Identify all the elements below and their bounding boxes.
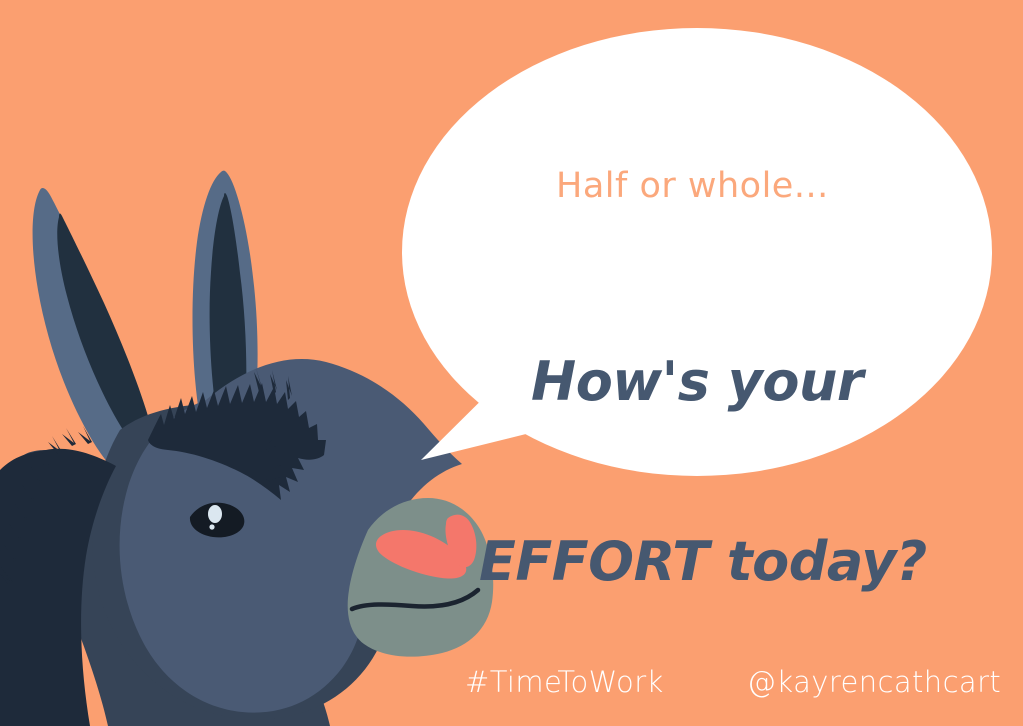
footer-handle: @kayrencathcart (747, 665, 1001, 699)
bubble-kicker-text: Half or whole... (556, 166, 829, 206)
eye-highlight (208, 505, 222, 523)
poster-canvas: Half or whole... How's your EFFORT today… (0, 0, 1023, 726)
footer-hashtag: #TimeToWork (465, 665, 664, 699)
headline-line-2: EFFORT today? (479, 532, 949, 592)
bubble-headline: How's your EFFORT today? (479, 232, 949, 712)
headline-line-1: How's your (479, 352, 949, 412)
eye-highlight-dot (209, 524, 214, 529)
